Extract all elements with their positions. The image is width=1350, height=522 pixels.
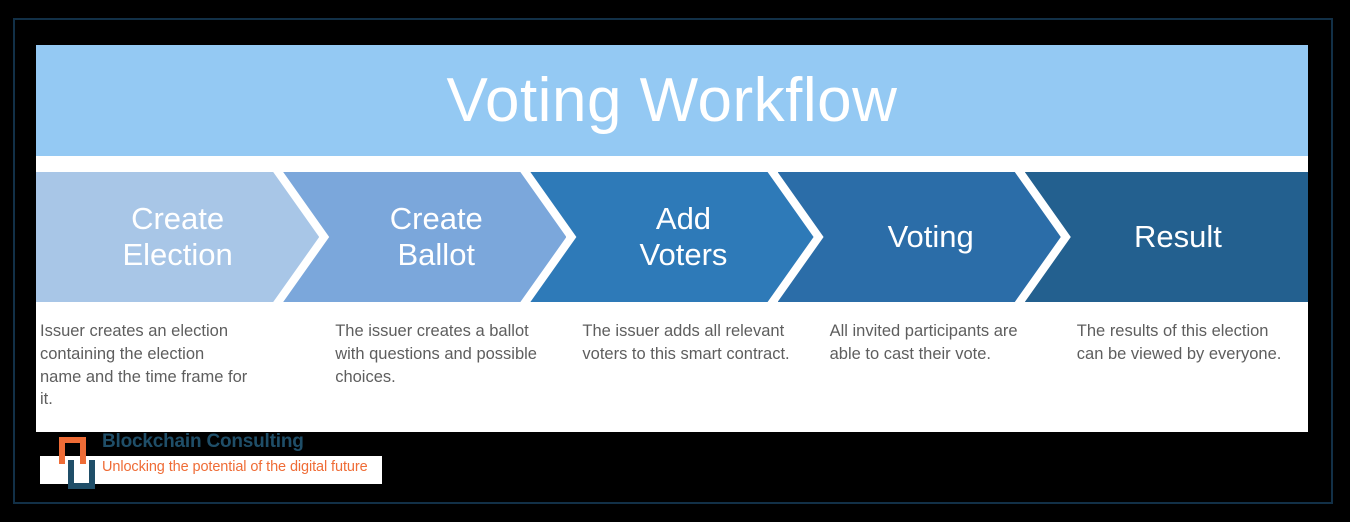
logo-company-name: Blockchain Consulting [102,432,382,453]
process-step-label-4: Voting [888,219,974,255]
process-step-2[interactable]: Create Ballot [283,172,566,302]
process-step-description-3: The issuer adds all relevant voters to t… [582,320,791,366]
process-step-label-3: Add Voters [640,201,728,273]
logo-tagline: Unlocking the potential of the digital f… [102,460,382,476]
process-step-label-1: Create Election [122,201,232,273]
process-step-label-2: Create Ballot [390,201,483,273]
process-step-description-2: The issuer creates a ballot with questio… [335,320,544,388]
page-title: Voting Workflow [447,70,898,132]
process-step-1[interactable]: Create Election [36,172,319,302]
process-step-description-1: Issuer creates an election containing th… [40,320,249,411]
step-description-row: Issuer creates an election containing th… [36,320,1308,420]
blockchain-brackets-icon [56,434,96,492]
brand-logo: Blockchain Consulting Unlocking the pote… [40,432,385,494]
header-band: Voting Workflow [36,45,1308,156]
process-step-label-5: Result [1134,219,1222,255]
process-step-description-5: The results of this election can be view… [1077,320,1286,366]
process-step-4[interactable]: Voting [778,172,1061,302]
process-step-3[interactable]: Add Voters [530,172,813,302]
process-step-5[interactable]: Result [1025,172,1308,302]
process-chevron-row: Create ElectionCreate BallotAdd VotersVo… [36,172,1308,302]
content-panel: Voting Workflow Create ElectionCreate Ba… [36,45,1308,432]
logo-text-block: Blockchain Consulting Unlocking the pote… [102,432,382,476]
diagram-canvas: Voting Workflow Create ElectionCreate Ba… [0,0,1350,522]
process-step-description-4: All invited participants are able to cas… [830,320,1039,366]
